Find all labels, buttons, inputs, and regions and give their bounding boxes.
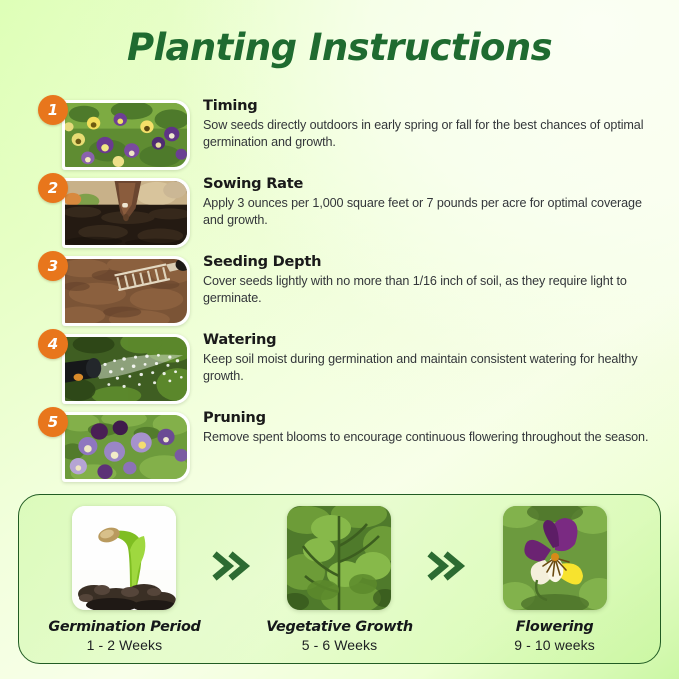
step-number-badge: 5: [38, 407, 68, 437]
step-thumbnail-frame: [62, 256, 190, 326]
step-text-block: Watering Keep soil moist during germinat…: [203, 330, 655, 384]
instruction-step: 3: [0, 252, 679, 329]
growth-timeline-panel: Germination Period 1 - 2 Weeks: [18, 494, 661, 664]
instruction-step: 5: [0, 408, 679, 485]
step-number-badge: 1: [38, 95, 68, 125]
green-leafy-plant-photo: [287, 506, 391, 610]
instruction-steps-list: 1: [0, 96, 679, 486]
step-thumbnail-frame: [62, 178, 190, 248]
step-number-badge: 4: [38, 329, 68, 359]
step-text-block: Pruning Remove spent blooms to encourage…: [203, 408, 655, 446]
step-description: Keep soil moist during germination and m…: [203, 351, 655, 384]
hand-sowing-seeds-in-soil-photo: [65, 181, 187, 245]
viola-flowers-bed-photo: [65, 103, 187, 167]
rake-on-soil-photo: [65, 259, 187, 323]
instruction-step: 4: [0, 330, 679, 407]
instruction-step: 2: [0, 174, 679, 251]
timeline-stage-duration: 9 - 10 weeks: [514, 637, 595, 653]
planting-instructions-infographic: Planting Instructions 1: [0, 0, 679, 679]
step-title: Pruning: [203, 408, 655, 428]
step-thumbnail-frame: [62, 334, 190, 404]
double-chevron-right-icon: [425, 551, 469, 581]
timeline-stage-duration: 1 - 2 Weeks: [87, 637, 163, 653]
timeline-stage-label: Flowering: [516, 619, 594, 635]
step-thumbnail-frame: [62, 100, 190, 170]
step-description: Sow seeds directly outdoors in early spr…: [203, 117, 655, 150]
step-text-block: Seeding Depth Cover seeds lightly with n…: [203, 252, 655, 306]
step-title: Seeding Depth: [203, 252, 655, 272]
timeline-stage-germination: Germination Period 1 - 2 Weeks: [39, 506, 210, 653]
timeline-stage-vegetative: Vegetative Growth 5 - 6 Weeks: [254, 506, 425, 653]
purple-viola-blooms-photo: [65, 415, 187, 479]
step-number-badge: 3: [38, 251, 68, 281]
timeline-stage-flowering: Flowering 9 - 10 weeks: [469, 506, 640, 653]
purple-yellow-pansy-bloom-photo: [503, 506, 607, 610]
double-chevron-right-icon: [210, 551, 254, 581]
step-description: Remove spent blooms to encourage continu…: [203, 429, 655, 446]
instruction-step: 1: [0, 96, 679, 173]
sprouting-seed-photo: [72, 506, 176, 610]
step-description: Cover seeds lightly with no more than 1/…: [203, 273, 655, 306]
step-thumbnail-frame: [62, 412, 190, 482]
step-description: Apply 3 ounces per 1,000 square feet or …: [203, 195, 655, 228]
timeline-stage-label: Germination Period: [48, 619, 200, 635]
page-title: Planting Instructions: [0, 26, 679, 69]
timeline-stage-label: Vegetative Growth: [266, 619, 413, 635]
hose-watering-spray-photo: [65, 337, 187, 401]
timeline-stage-duration: 5 - 6 Weeks: [302, 637, 378, 653]
step-text-block: Sowing Rate Apply 3 ounces per 1,000 squ…: [203, 174, 655, 228]
step-text-block: Timing Sow seeds directly outdoors in ea…: [203, 96, 655, 150]
step-title: Watering: [203, 330, 655, 350]
step-number-badge: 2: [38, 173, 68, 203]
step-title: Sowing Rate: [203, 174, 655, 194]
step-title: Timing: [203, 96, 655, 116]
